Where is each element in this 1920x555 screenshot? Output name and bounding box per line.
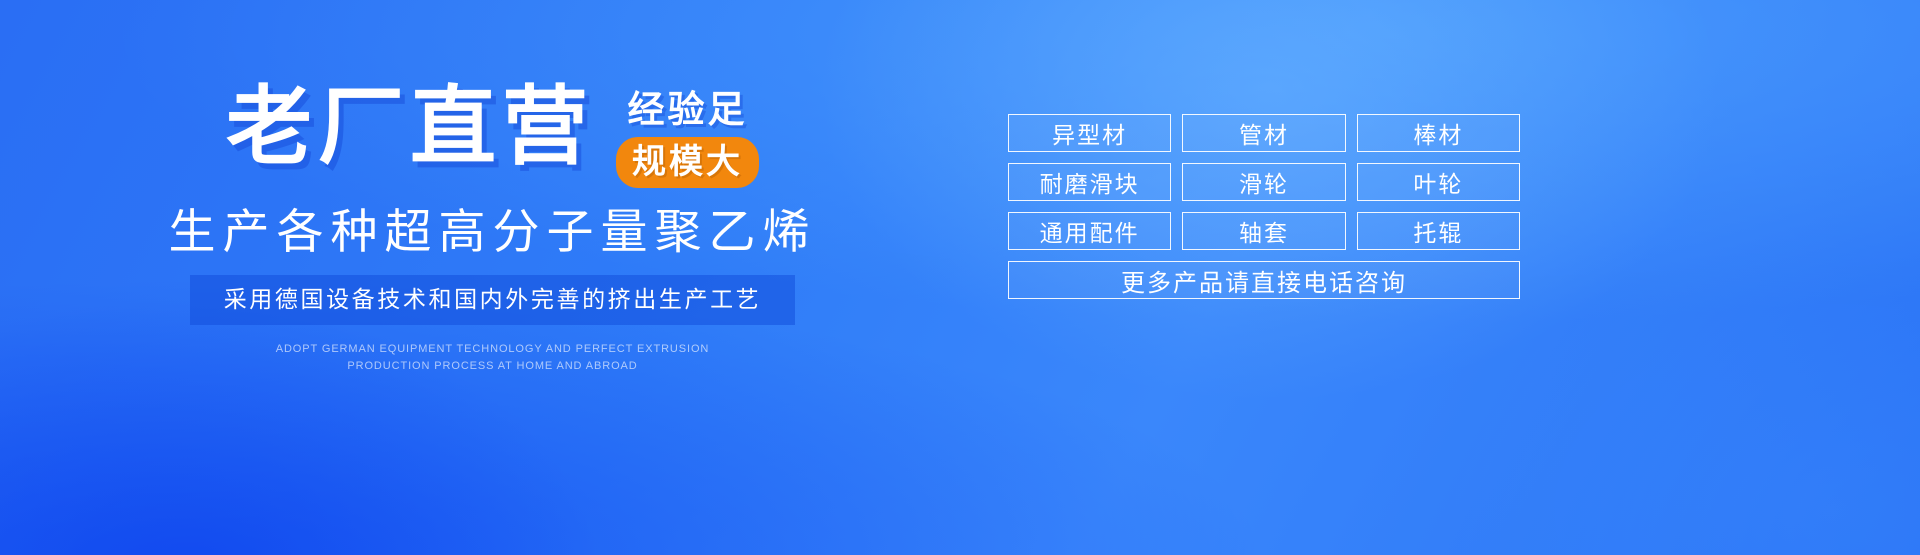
product-category-block: 异型材 管材 棒材 耐磨滑块 滑轮 叶轮 通用配件 轴套 托辊 更多产品请直接电… <box>1008 114 1520 299</box>
headline-main-title: 老厂直营 <box>226 84 594 170</box>
product-button-bangcai[interactable]: 棒材 <box>1357 114 1520 152</box>
headline-badge-group: 经验足 规模大 <box>616 84 759 188</box>
english-tagline: ADOPT GERMAN EQUIPMENT TECHNOLOGY AND PE… <box>0 341 985 375</box>
glow-highlight-right <box>1450 250 1920 555</box>
product-button-yixingcai[interactable]: 异型材 <box>1008 114 1171 152</box>
product-category-grid: 异型材 管材 棒材 耐磨滑块 滑轮 叶轮 通用配件 轴套 托辊 <box>1008 114 1520 250</box>
product-button-guancai[interactable]: 管材 <box>1182 114 1345 152</box>
product-button-hualun[interactable]: 滑轮 <box>1182 163 1345 201</box>
promo-banner: 老厂直营 经验足 规模大 生产各种超高分子量聚乙烯 采用德国设备技术和国内外完善… <box>0 0 1920 555</box>
english-tagline-line2: PRODUCTION PROCESS AT HOME AND ABROAD <box>0 358 985 375</box>
more-products-button[interactable]: 更多产品请直接电话咨询 <box>1008 261 1520 299</box>
product-button-tongyongpeijian[interactable]: 通用配件 <box>1008 212 1171 250</box>
badge-experience: 经验足 <box>616 90 759 130</box>
tagline-strip: 采用德国设备技术和国内外完善的挤出生产工艺 <box>190 275 796 325</box>
headline-row: 老厂直营 经验足 规模大 <box>0 84 985 192</box>
tagline-strip-wrapper: 采用德国设备技术和国内外完善的挤出生产工艺 <box>0 275 985 325</box>
product-button-zhoutao[interactable]: 轴套 <box>1182 212 1345 250</box>
product-button-naimohuakuai[interactable]: 耐磨滑块 <box>1008 163 1171 201</box>
product-button-tuogun[interactable]: 托辊 <box>1357 212 1520 250</box>
product-button-yelun[interactable]: 叶轮 <box>1357 163 1520 201</box>
headline-block: 老厂直营 经验足 规模大 生产各种超高分子量聚乙烯 采用德国设备技术和国内外完善… <box>0 84 985 375</box>
english-tagline-line1: ADOPT GERMAN EQUIPMENT TECHNOLOGY AND PE… <box>0 341 985 358</box>
headline-subtitle: 生产各种超高分子量聚乙烯 <box>0 206 985 259</box>
badge-scale: 规模大 <box>616 137 759 188</box>
